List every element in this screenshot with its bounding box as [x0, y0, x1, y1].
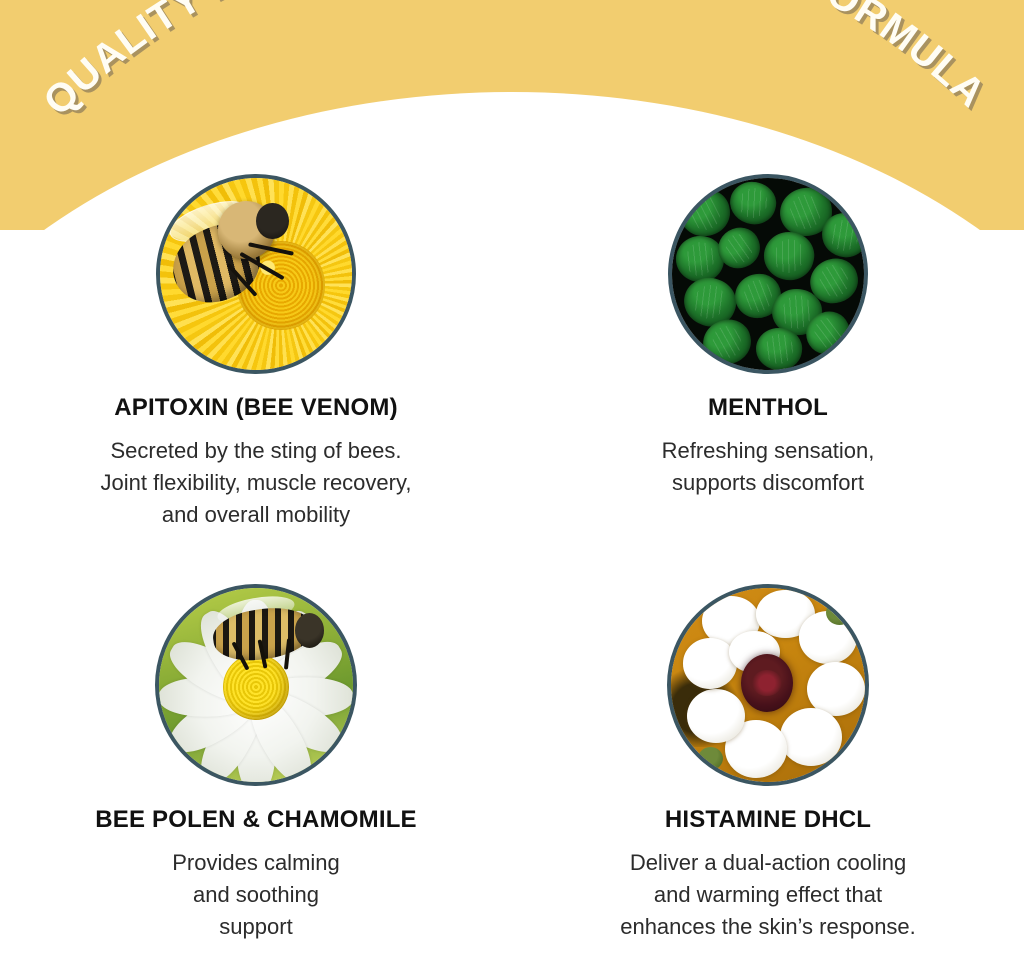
description-line: Joint flexibility, muscle recovery,	[101, 467, 412, 499]
ingredient-description: Deliver a dual-action cooling and warmin…	[620, 847, 916, 943]
mint-leaves-photo	[668, 174, 868, 374]
ingredient-card-bee-polen-chamomile: BEE POLEN & CHAMOMILE Provides calming a…	[0, 562, 512, 962]
bee-daisy-artwork	[160, 178, 352, 370]
flower-center	[741, 654, 793, 712]
mint-leaf	[724, 176, 781, 230]
ingredient-title: HISTAMINE DHCL	[665, 806, 871, 835]
ingredient-card-menthol: MENTHOL Refreshing sensation, supports d…	[512, 150, 1024, 562]
ingredient-description: Refreshing sensation, supports discomfor…	[662, 435, 875, 499]
description-line: and warming effect that	[620, 879, 916, 911]
ingredient-title: APITOXIN (BEE VENOM)	[114, 394, 398, 423]
ingredients-grid: APITOXIN (BEE VENOM) Secreted by the sti…	[0, 150, 1024, 962]
description-line: Secreted by the sting of bees.	[101, 435, 412, 467]
description-line: and soothing	[172, 879, 340, 911]
description-line: enhances the skin’s response.	[620, 911, 916, 943]
ingredient-title: MENTHOL	[708, 394, 828, 423]
bee-on-yellow-flower-photo	[156, 174, 356, 374]
manuka-flower-artwork	[671, 588, 865, 782]
ingredient-card-histamine-dhcl: HISTAMINE DHCL Deliver a dual-action coo…	[512, 562, 1024, 962]
description-line: and overall mobility	[101, 499, 412, 531]
ingredient-description: Provides calming and soothing support	[172, 847, 340, 943]
flower-center	[223, 654, 289, 720]
flower-petal	[687, 689, 745, 743]
description-line: Refreshing sensation,	[662, 435, 875, 467]
flower-bud	[826, 600, 853, 625]
bee-head	[295, 613, 324, 648]
ingredient-description: Secreted by the sting of bees. Joint fle…	[101, 435, 412, 531]
ingredient-title: BEE POLEN & CHAMOMILE	[95, 806, 417, 835]
bee-head	[256, 203, 289, 239]
description-line: supports discomfort	[662, 467, 875, 499]
ingredient-card-apitoxin: APITOXIN (BEE VENOM) Secreted by the sti…	[0, 150, 512, 562]
white-manuka-flower-photo	[667, 584, 869, 786]
description-line: Deliver a dual-action cooling	[620, 847, 916, 879]
chamomile-artwork	[159, 588, 353, 782]
mint-leaves-artwork	[672, 178, 864, 370]
flower-bud	[698, 747, 723, 770]
bee-on-chamomile-flower-photo	[155, 584, 357, 786]
flower-petal	[780, 708, 842, 766]
description-line: support	[172, 911, 340, 943]
description-line: Provides calming	[172, 847, 340, 879]
